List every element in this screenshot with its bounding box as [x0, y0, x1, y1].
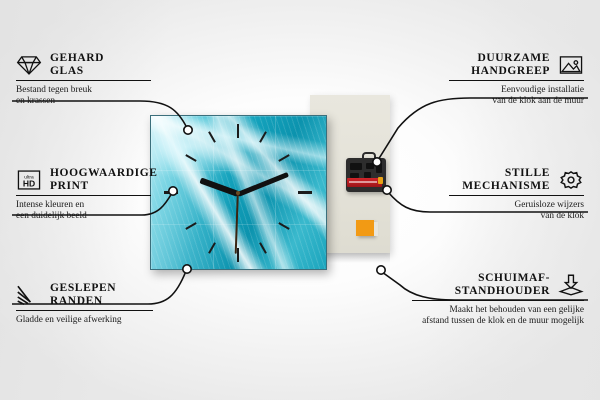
feature-subtitle: en krassen — [16, 96, 151, 107]
ultra-hd-icon: ultra HD — [16, 168, 42, 192]
feature-title: HANDGREEP — [471, 65, 550, 78]
feature-duurzame-handgreep[interactable]: DUURZAME HANDGREEP Eenvoudige installati… — [449, 52, 584, 107]
connector-duurzame — [378, 98, 588, 160]
gear-icon — [558, 168, 584, 192]
feature-title: MECHANISME — [462, 180, 550, 193]
feature-divider — [449, 80, 584, 81]
feature-subtitle: Geruisloze wijzers — [449, 200, 584, 211]
picture-frame-icon — [558, 53, 584, 77]
feature-subtitle: Eenvoudige installatie — [449, 85, 584, 96]
feature-geslepen-randen[interactable]: GESLEPEN RANDEN Gladde en veilige afwerk… — [16, 282, 153, 326]
infographic-canvas: GEHARD GLAS Bestand tegen breuk en krass… — [0, 0, 600, 400]
feature-title: STANDHOUDER — [455, 285, 550, 298]
ultra-hd-icon-bottom: HD — [23, 178, 35, 188]
feature-divider — [412, 300, 584, 301]
feature-subtitle: van de klok — [449, 211, 584, 222]
connector-dot — [183, 265, 191, 273]
feature-divider — [16, 195, 151, 196]
feature-hoogwaardige-print[interactable]: ultra HD HOOGWAARDIGE PRINT Intense kleu… — [16, 167, 151, 222]
feature-subtitle: afstand tussen de klok en de muur mogeli… — [412, 316, 584, 327]
feature-title: RANDEN — [50, 295, 116, 308]
feature-gehard-glas[interactable]: GEHARD GLAS Bestand tegen breuk en krass… — [16, 52, 151, 107]
feature-title: DUURZAME — [471, 52, 550, 65]
feature-stille-mechanisme[interactable]: STILLE MECHANISME Geruisloze wijzers van… — [449, 167, 584, 222]
feature-subtitle: Intense kleuren en — [16, 200, 151, 211]
connector-dot — [169, 187, 177, 195]
feature-title: SCHUIMAF- — [455, 272, 550, 285]
feature-subtitle: Gladde en veilige afwerking — [16, 315, 153, 326]
feature-title: PRINT — [50, 180, 158, 193]
diamond-icon — [16, 53, 42, 77]
connector-dot — [377, 266, 385, 274]
foam-spacer-icon — [558, 273, 584, 297]
beveled-edges-icon — [16, 283, 42, 307]
connector-dot — [184, 126, 192, 134]
feature-divider — [16, 310, 153, 311]
feature-title: GLAS — [50, 65, 104, 78]
feature-title: GESLEPEN — [50, 282, 116, 295]
feature-divider — [16, 80, 151, 81]
connector-dot — [373, 158, 381, 166]
feature-schuimaf-standhouder[interactable]: SCHUIMAF- STANDHOUDER Maakt het behouden… — [412, 272, 584, 327]
feature-title: HOOGWAARDIGE — [50, 167, 158, 180]
feature-subtitle: Bestand tegen breuk — [16, 85, 151, 96]
feature-subtitle: een duidelijk beeld — [16, 211, 151, 222]
feature-subtitle: Maakt het behouden van een gelijke — [412, 305, 584, 316]
feature-divider — [449, 195, 584, 196]
feature-title: STILLE — [462, 167, 550, 180]
connector-dot — [383, 186, 391, 194]
feature-title: GEHARD — [50, 52, 104, 65]
feature-subtitle: van de klok aan de muur — [449, 96, 584, 107]
